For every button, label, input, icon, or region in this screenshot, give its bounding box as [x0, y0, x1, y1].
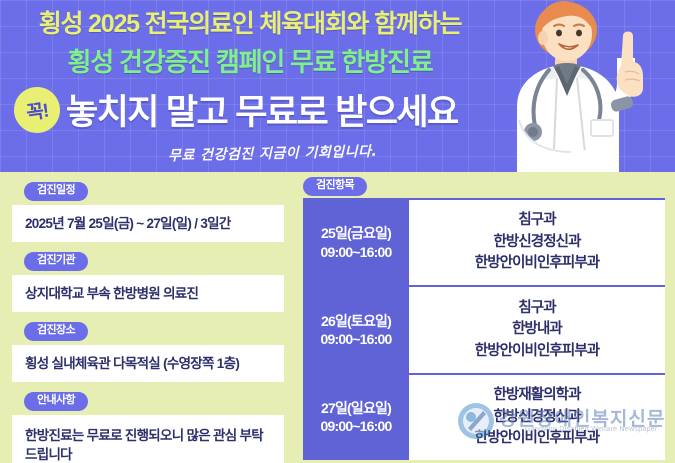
department-name: 한방안이비인후피부과 [475, 428, 599, 449]
info-block-schedule: 검진일정 2025년 7월 25일(금) ~ 27일(일) / 3일간 [0, 180, 296, 242]
time-label: 09:00~16:00 [321, 243, 392, 261]
department-name: 한방재활의학과 [493, 385, 580, 406]
table-cell-day: 27일(일요일) 09:00~16:00 [303, 375, 409, 460]
banner-title-line-2: 횡성 건강증진 캠페인 무료 한방진료 [0, 42, 500, 79]
department-name: 한방신경정신과 [493, 232, 580, 253]
department-name: 한방내과 [512, 319, 562, 340]
info-label-institution: 검진기관 [24, 252, 88, 271]
day-label: 25일(금요일) [321, 224, 391, 242]
poster-banner: 횡성 2025 전국의료인 체육대회와 함께하는 횡성 건강증진 캠페인 무료 … [0, 0, 675, 172]
day-label: 27일(일요일) [321, 399, 391, 417]
banner-headline: 놓치지 말고 무료로 받으세요 [66, 84, 458, 135]
schedule-table: 25일(금요일) 09:00~16:00 침구과 한방신경정신과 한방안이비인후… [303, 198, 665, 460]
department-name: 침구과 [518, 210, 555, 231]
kkok-badge: 꼭! [11, 84, 63, 136]
day-label: 26일(토요일) [321, 312, 391, 330]
department-name: 한방신경정신과 [493, 407, 580, 428]
info-label-notice: 안내사항 [24, 392, 88, 411]
table-cell-day: 26일(토요일) 09:00~16:00 [303, 287, 409, 372]
time-label: 09:00~16:00 [321, 417, 392, 435]
headline-row: 꼭! 놓치지 말고 무료로 받으세요 [14, 84, 458, 135]
info-block-location: 검진장소 횡성 실내체육관 다목적실 (수영장쪽 1층) [0, 320, 296, 382]
table-cell-departments: 침구과 한방신경정신과 한방안이비인후피부과 [409, 200, 665, 285]
time-label: 09:00~16:00 [321, 330, 392, 348]
department-name: 한방안이비인후피부과 [475, 341, 599, 362]
table-row: 26일(토요일) 09:00~16:00 침구과 한방내과 한방안이비인후피부과 [303, 287, 665, 374]
table-cell-day: 25일(금요일) 09:00~16:00 [303, 200, 409, 285]
table-cell-departments: 침구과 한방내과 한방안이비인후피부과 [409, 287, 665, 372]
info-value-schedule: 2025년 7월 25일(금) ~ 27일(일) / 3일간 [12, 205, 284, 243]
doctor-illustration [483, 0, 673, 172]
banner-title-line-1: 횡성 2025 전국의료인 체육대회와 함께하는 [0, 4, 500, 40]
handwritten-note: 무료 건강검진 지금이 기회입니다. [168, 141, 378, 165]
table-row: 27일(일요일) 09:00~16:00 한방재활의학과 한방신경정신과 한방안… [303, 375, 665, 460]
info-block-notice: 안내사항 한방진료는 무료로 진행되오니 많은 관심 부탁드립니다 [0, 390, 296, 463]
info-block-institution: 검진기관 상지대학교 부속 한방병원 의료진 [0, 250, 296, 312]
info-value-institution: 상지대학교 부속 한방병원 의료진 [12, 275, 284, 313]
info-value-location: 횡성 실내체육관 다목적실 (수영장쪽 1층) [12, 345, 284, 383]
info-label-schedule: 검진일정 [24, 182, 88, 201]
department-name: 침구과 [518, 298, 555, 319]
table-cell-departments: 한방재활의학과 한방신경정신과 한방안이비인후피부과 [409, 375, 665, 460]
schedule-column: 검진항목 25일(금요일) 09:00~16:00 침구과 한방신경정신과 한방… [296, 172, 675, 463]
info-column: 검진일정 2025년 7월 25일(금) ~ 27일(일) / 3일간 검진기관… [0, 172, 296, 463]
info-value-notice: 한방진료는 무료로 진행되오니 많은 관심 부탁드립니다 [12, 415, 284, 463]
schedule-label: 검진항목 [303, 177, 367, 196]
table-row: 25일(금요일) 09:00~16:00 침구과 한방신경정신과 한방안이비인후… [303, 200, 665, 287]
poster-root: 횡성 2025 전국의료인 체육대회와 함께하는 횡성 건강증진 캠페인 무료 … [0, 0, 675, 463]
department-name: 한방안이비인후피부과 [475, 253, 599, 274]
info-label-location: 검진장소 [24, 322, 88, 341]
